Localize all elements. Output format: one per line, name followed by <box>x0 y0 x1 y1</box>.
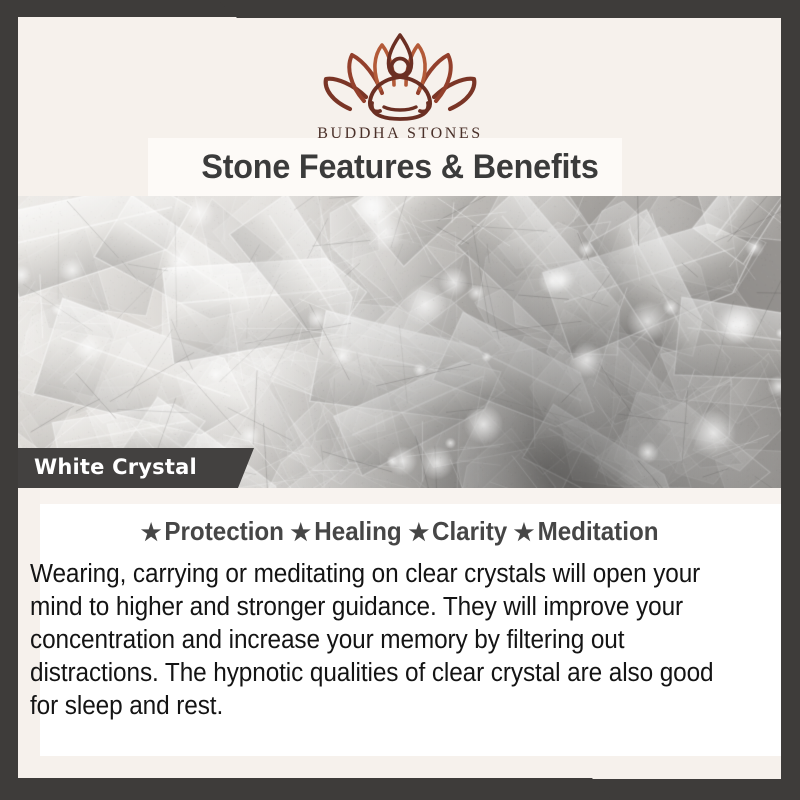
feature-label: Clarity <box>432 516 507 547</box>
feature-label: Meditation <box>538 516 659 547</box>
feature-label: Protection <box>164 516 284 547</box>
feature-item-protection: ★Protection <box>141 516 283 547</box>
frame-bottom-bar <box>0 778 800 800</box>
features-list: ★Protection★Healing★Clarity★Meditation <box>45 516 756 547</box>
white-crystal-cluster-photo <box>18 196 782 488</box>
content-panel-tint <box>40 488 782 504</box>
feature-label: Healing <box>314 516 401 547</box>
description-text: Wearing, carrying or meditating on clear… <box>30 558 725 723</box>
feature-item-clarity: ★Clarity <box>409 516 507 547</box>
star-icon: ★ <box>291 519 312 546</box>
infographic-page: BUDDHA STONES Stone Features & Benefits … <box>0 0 800 800</box>
lotus-meditation-icon <box>310 23 490 123</box>
star-icon: ★ <box>514 519 535 546</box>
crystal-photo-canvas <box>18 196 782 488</box>
frame-left-bar <box>0 0 18 800</box>
star-icon: ★ <box>141 519 162 546</box>
frame-right-bar <box>781 0 800 800</box>
feature-item-healing: ★Healing <box>291 516 401 547</box>
page-title: Stone Features & Benefits <box>37 139 763 195</box>
feature-item-meditation: ★Meditation <box>515 516 659 547</box>
star-icon: ★ <box>408 519 429 546</box>
frame-top-bar <box>0 0 800 18</box>
stone-name-label: White Crystal <box>34 455 197 479</box>
brand-logo: BUDDHA STONES <box>18 23 782 143</box>
